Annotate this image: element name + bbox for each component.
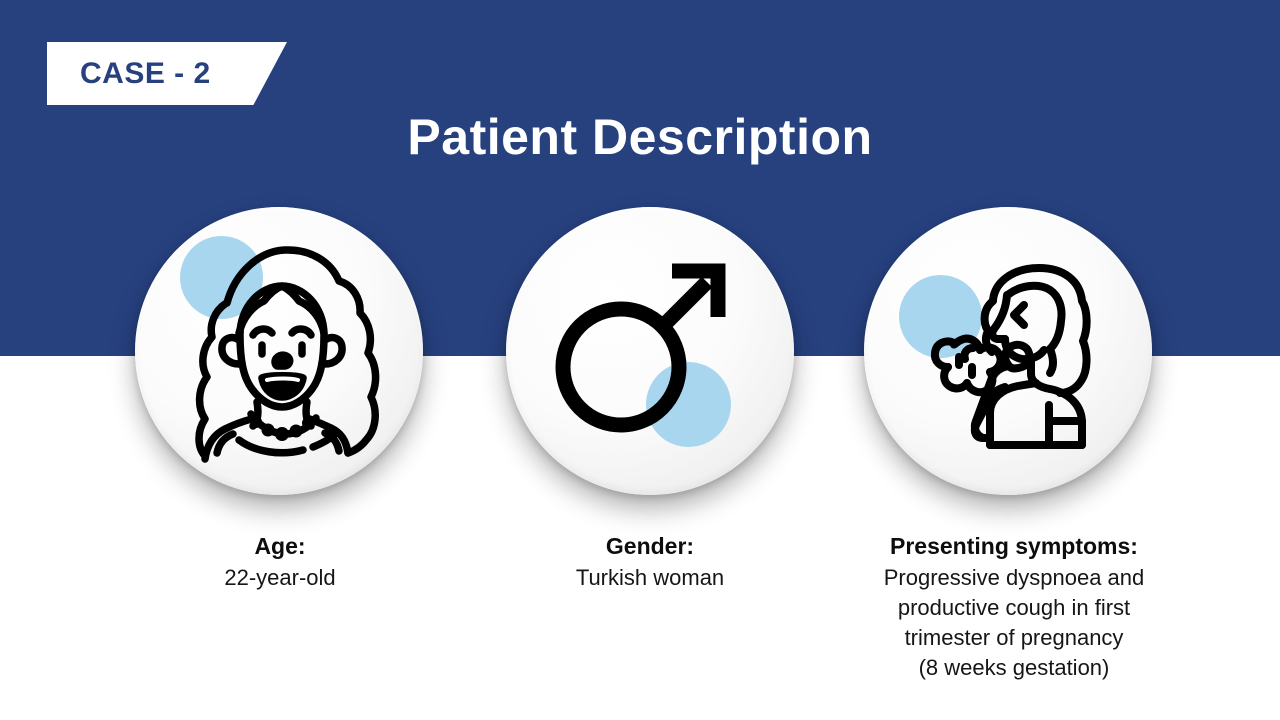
icon-badge-gender [506, 207, 794, 495]
male-gender-symbol-icon [506, 207, 794, 495]
card-symptoms [864, 207, 1154, 495]
coughing-person-icon [864, 207, 1152, 495]
slide-canvas: CASE - 2 Patient Description [0, 0, 1280, 720]
woman-portrait-icon [135, 207, 423, 495]
icon-badge-age [135, 207, 423, 495]
icon-badge-symptoms [864, 207, 1152, 495]
card-gender [506, 207, 796, 495]
card-age [135, 207, 425, 495]
cards-row [0, 0, 1280, 720]
